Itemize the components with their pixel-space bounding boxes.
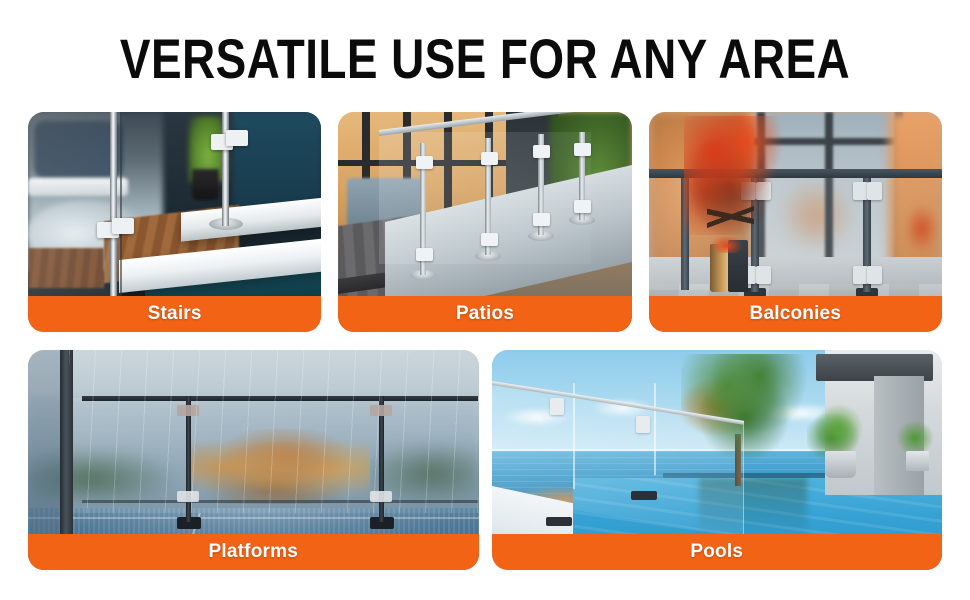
balconies-pot-flowers: [710, 235, 742, 253]
pools-glass-clamp-1: [550, 398, 564, 415]
card-label-patios: Patios: [456, 303, 514, 325]
card-label-pools: Pools: [690, 541, 743, 563]
pools-spigot-2: [631, 491, 657, 500]
card-label-bar-pools: Pools: [492, 534, 943, 570]
pools-planter-2: [906, 451, 929, 471]
infographic-page: VERSATILE USE FOR ANY AREA: [0, 0, 970, 600]
card-row-bottom: Platforms: [28, 350, 942, 570]
patios-glass-clamp-7: [574, 143, 591, 156]
card-label-bar-balconies: Balconies: [649, 296, 942, 332]
pools-glass-joint-2: [654, 383, 656, 476]
use-case-card-stairs[interactable]: Stairs: [28, 112, 321, 332]
card-row-top: Stairs: [28, 112, 942, 332]
card-label-stairs: Stairs: [148, 303, 202, 325]
patios-glass-clamp-2: [416, 248, 433, 261]
use-case-card-platforms[interactable]: Platforms: [28, 350, 479, 570]
card-label-bar-platforms: Platforms: [28, 534, 479, 570]
patios-glass-clamp-8: [574, 200, 591, 213]
card-label-platforms: Platforms: [209, 541, 298, 563]
stairs-post-1: [110, 112, 117, 306]
balconies-glass-clamp-5: [853, 182, 868, 200]
balconies-glass-clamp-8: [867, 266, 882, 284]
pools-spigot-1: [546, 517, 572, 526]
balconies-glass-clamp-4: [756, 266, 771, 284]
card-label-balconies: Balconies: [750, 303, 842, 325]
stairs-planter: [192, 169, 218, 200]
pools-glass-joint-1: [573, 383, 575, 489]
patios-glass-clamp-3: [481, 152, 498, 165]
use-case-card-patios[interactable]: Patios: [338, 112, 631, 332]
patios-glass-clamp-4: [481, 233, 498, 246]
pools-glass-clamp-2: [636, 416, 650, 433]
balconies-glass-clamp-7: [853, 266, 868, 284]
use-case-card-balconies[interactable]: Balconies: [649, 112, 942, 332]
stairs-glass-clamp-4: [226, 130, 248, 146]
platforms-rain-streaks: [69, 350, 479, 513]
balconies-glass-clamp-6: [867, 182, 882, 200]
stairs-glass-panel: [28, 112, 122, 297]
use-case-card-pools[interactable]: Pools: [492, 350, 943, 570]
page-title: VERSATILE USE FOR ANY AREA: [87, 28, 882, 90]
card-label-bar-patios: Patios: [338, 296, 631, 332]
patios-glass-clamp-5: [533, 145, 550, 158]
stairs-glass-clamp-2: [112, 218, 134, 234]
patios-glass-clamp-1: [416, 156, 433, 169]
platforms-deck-seam-1: [28, 517, 479, 519]
patios-glass-clamp-6: [533, 213, 550, 226]
pools-planter-1: [825, 451, 857, 477]
card-label-bar-stairs: Stairs: [28, 296, 321, 332]
